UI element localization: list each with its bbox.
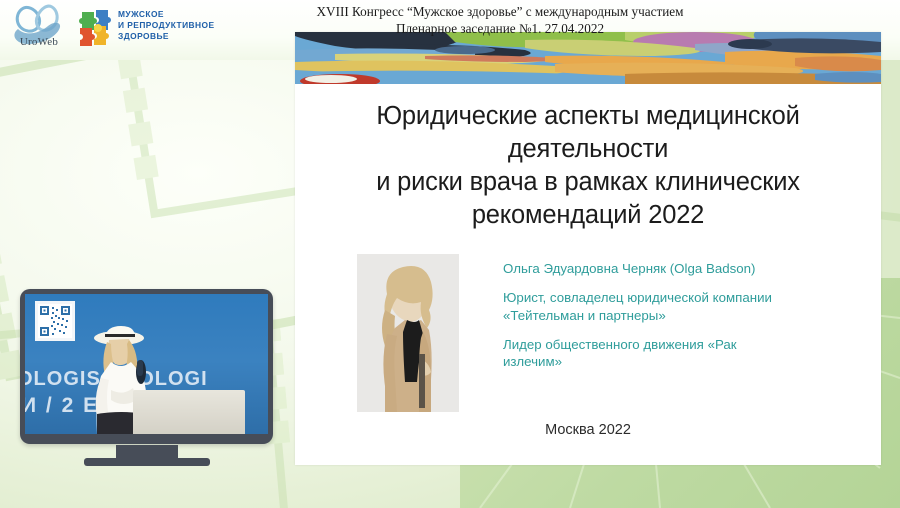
slide-city-year: Москва 2022 — [295, 422, 881, 438]
speaker-movement: Лидер общественного движения «Рак излечи… — [503, 336, 853, 371]
congress-title: XVIII Конгресс “Мужское здоровье” с межд… — [230, 3, 770, 21]
partner-logo-text: МУЖСКОЕ И РЕПРОДУКТИВНОЕ ЗДОРОВЬЕ — [118, 9, 215, 42]
slide-title-line-2: деятельности — [315, 133, 861, 166]
slide-title: Юридические аспекты медицинской деятельн… — [315, 100, 861, 233]
speaker-movement-line-2: излечим» — [503, 353, 853, 370]
speaker-movement-line-1: Лидер общественного движения «Рак — [503, 336, 853, 353]
speaker-name: Ольга Эдуардовна Черняк (Olga Badson) — [503, 260, 853, 277]
male-reproductive-health-puzzle-icon — [74, 4, 120, 50]
presentation-slide: Юридические аспекты медицинской деятельн… — [295, 32, 881, 465]
video-monitor[interactable]: OLOGIS DROLOGI И / 2 ЕЛ — [12, 289, 280, 489]
speaker-details: Ольга Эдуардовна Черняк (Olga Badson) Юр… — [503, 260, 853, 370]
partner-logo-line-1: МУЖСКОЕ — [118, 9, 215, 20]
speaker-role: Юрист, совладелец юридической компании «… — [503, 289, 853, 324]
uroweb-logo-label: UroWeb — [8, 36, 70, 48]
monitor-bezel: OLOGIS DROLOGI И / 2 ЕЛ — [20, 289, 273, 444]
monitor-stand-neck — [116, 445, 178, 459]
speaker-role-line-1: Юрист, совладелец юридической компании — [503, 289, 853, 306]
speaker-portrait-photo — [357, 254, 459, 412]
qr-code-icon — [35, 301, 75, 341]
speaker-portrait-illustration — [357, 254, 459, 412]
monitor-stand-base — [84, 458, 210, 466]
slide-title-line-4: рекомендаций 2022 — [315, 199, 861, 232]
slide-title-line-3: и риски врача в рамках клинических — [315, 166, 861, 199]
congress-session-subtitle: Пленарное заседание №1. 27.04.2022 — [230, 21, 770, 37]
partner-logo-line-2: И РЕПРОДУКТИВНОЕ — [118, 20, 215, 31]
slide-title-line-1: Юридические аспекты медицинской — [315, 100, 861, 133]
qr-code-glyph — [38, 304, 72, 338]
speaker-role-line-2: «Тейтельман и партнеры» — [503, 307, 853, 324]
partner-logo-line-3: ЗДОРОВЬЕ — [118, 31, 215, 42]
video-screen[interactable]: OLOGIS DROLOGI И / 2 ЕЛ — [25, 294, 268, 434]
podium — [133, 390, 245, 434]
page-header: UroWeb МУЖСКОЕ И РЕПРОДУКТИВНОЕ ЗДОРОВЬЕ… — [0, 0, 900, 58]
